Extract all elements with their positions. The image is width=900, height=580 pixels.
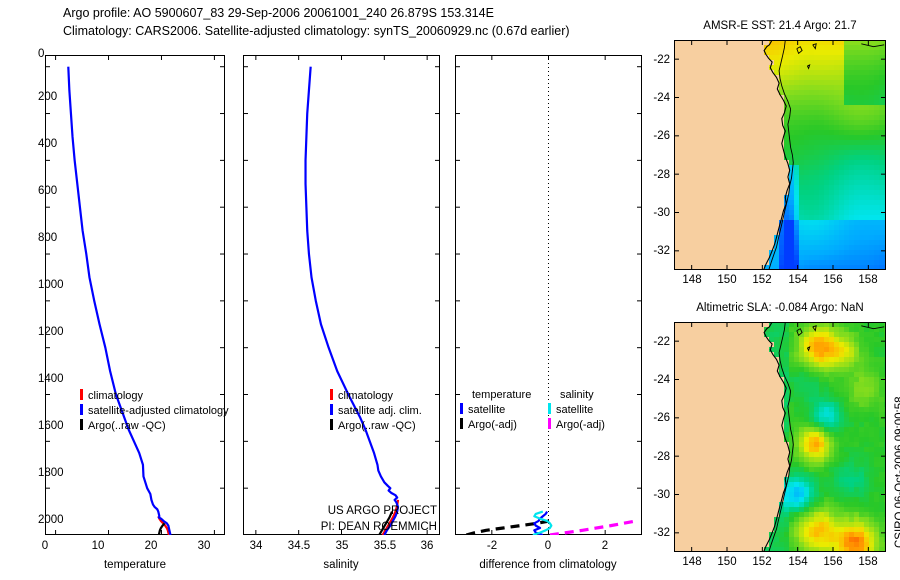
sla-ytick--22: -22 <box>653 336 670 348</box>
legend-swatch-black <box>80 419 83 430</box>
sst-map-title: AMSR-E SST: 21.4 Argo: 21.7 <box>703 20 856 32</box>
salinity-legend: climatology satellite adj. clim. Argo(..… <box>330 389 422 432</box>
legend-swatch-magenta <box>548 418 551 429</box>
temp-xtick-20: 20 <box>145 540 158 552</box>
sst-ytick--24: -24 <box>653 92 670 104</box>
page-title-line2: Climatology: CARS2006. Satellite-adjuste… <box>63 24 570 38</box>
legend-item-sal-argo: Argo(-adj) <box>548 418 636 431</box>
temperature-legend: climatology satellite-adjusted climatolo… <box>80 389 229 432</box>
diff-xtick-2: 2 <box>602 540 608 552</box>
legend-label: satellite <box>468 404 505 416</box>
legend-swatch-blue <box>330 404 333 415</box>
sal-xtick-35: 35 <box>336 540 349 552</box>
legend-item-argo: Argo(..raw -QC) <box>330 419 422 432</box>
sla-xtick-154: 154 <box>788 556 807 568</box>
sal-xtick-36: 36 <box>421 540 434 552</box>
legend-label: Argo(-adj) <box>468 419 517 431</box>
sst-map[interactable] <box>674 40 886 270</box>
legend-label: climatology <box>338 390 393 402</box>
legend-item-climatology: climatology <box>330 389 422 402</box>
difference-plot[interactable] <box>455 55 642 535</box>
legend-item-temp-satellite: satellite <box>460 403 548 416</box>
legend-header-salinity: salinity <box>548 389 636 401</box>
sst-xtick-154: 154 <box>788 274 807 286</box>
difference-axis-label: difference from climatology <box>479 559 616 571</box>
legend-label: Argo(..raw -QC) <box>338 420 416 432</box>
temp-xtick-0: 0 <box>42 540 48 552</box>
temp-xtick-10: 10 <box>92 540 105 552</box>
sal-xtick-35.5: 35.5 <box>374 540 396 552</box>
legend-item-sal-satellite: satellite <box>548 403 636 416</box>
difference-panel <box>455 55 642 535</box>
difference-legend-col-salinity: salinity satellite Argo(-adj) <box>548 389 636 431</box>
difference-legend-col-temperature: temperature satellite Argo(-adj) <box>460 389 548 431</box>
temp-xtick-30: 30 <box>198 540 211 552</box>
sla-ytick--26: -26 <box>653 412 670 424</box>
legend-item-climatology: climatology <box>80 389 229 402</box>
legend-swatch-blue <box>460 403 463 414</box>
sla-ytick--24: -24 <box>653 374 670 386</box>
sla-xtick-152: 152 <box>752 556 771 568</box>
sst-map-canvas[interactable] <box>674 40 886 270</box>
sst-ytick--26: -26 <box>653 130 670 142</box>
legend-swatch-red <box>330 389 333 400</box>
sst-ytick--22: -22 <box>653 54 670 66</box>
legend-item-satellite: satellite-adjusted climatology <box>80 404 229 417</box>
salinity-plot[interactable] <box>243 55 440 535</box>
sla-xtick-156: 156 <box>823 556 842 568</box>
legend-swatch-black <box>330 419 333 430</box>
sla-ytick--28: -28 <box>653 451 670 463</box>
legend-swatch-cyan <box>548 403 551 414</box>
sal-xtick-34.5: 34.5 <box>288 540 310 552</box>
sal-xtick-34: 34 <box>250 540 263 552</box>
temperature-panel <box>45 55 225 535</box>
footer-pi: PI: DEAN ROEMMICH <box>321 521 437 533</box>
temperature-plot[interactable] <box>45 55 225 535</box>
sst-xtick-148: 148 <box>682 274 701 286</box>
sst-xtick-150: 150 <box>717 274 736 286</box>
sst-xtick-156: 156 <box>823 274 842 286</box>
legend-label: satellite-adjusted climatology <box>88 405 229 417</box>
temperature-axis-label: temperature <box>104 559 166 571</box>
sla-map[interactable] <box>674 322 886 552</box>
diff-xtick--2: -2 <box>487 540 497 552</box>
csiro-timestamp: CSIRO 06-Oct-2006 09:00:58 <box>894 397 900 549</box>
sla-map-title: Altimetric SLA: -0.084 Argo: NaN <box>696 302 863 314</box>
legend-swatch-red <box>80 389 83 400</box>
legend-label: satellite adj. clim. <box>338 405 422 417</box>
legend-swatch-blue <box>80 404 83 415</box>
legend-swatch-black <box>460 418 463 429</box>
sla-ytick--32: -32 <box>653 527 670 539</box>
salinity-panel <box>243 55 440 535</box>
difference-legend: temperature satellite Argo(-adj) salinit… <box>460 389 640 431</box>
legend-label: climatology <box>88 390 143 402</box>
sst-ytick--32: -32 <box>653 245 670 257</box>
diff-xtick-0: 0 <box>545 540 551 552</box>
legend-header-temperature: temperature <box>460 389 548 401</box>
sla-ytick--30: -30 <box>653 489 670 501</box>
sla-xtick-150: 150 <box>717 556 736 568</box>
sla-xtick-148: 148 <box>682 556 701 568</box>
salinity-axis-label: salinity <box>323 559 358 571</box>
footer-project: US ARGO PROJECT <box>328 505 437 517</box>
legend-item-temp-argo: Argo(-adj) <box>460 418 548 431</box>
page-title-line1: Argo profile: AO 5900607_83 29-Sep-2006 … <box>63 6 494 20</box>
legend-label: satellite <box>556 404 593 416</box>
legend-label: Argo(-adj) <box>556 419 605 431</box>
legend-item-argo: Argo(..raw -QC) <box>80 419 229 432</box>
sst-ytick--30: -30 <box>653 207 670 219</box>
sst-ytick--28: -28 <box>653 169 670 181</box>
legend-label: Argo(..raw -QC) <box>88 420 166 432</box>
sla-xtick-158: 158 <box>858 556 877 568</box>
legend-item-satellite: satellite adj. clim. <box>330 404 422 417</box>
sst-xtick-158: 158 <box>858 274 877 286</box>
sst-xtick-152: 152 <box>752 274 771 286</box>
sla-map-canvas[interactable] <box>674 322 886 552</box>
